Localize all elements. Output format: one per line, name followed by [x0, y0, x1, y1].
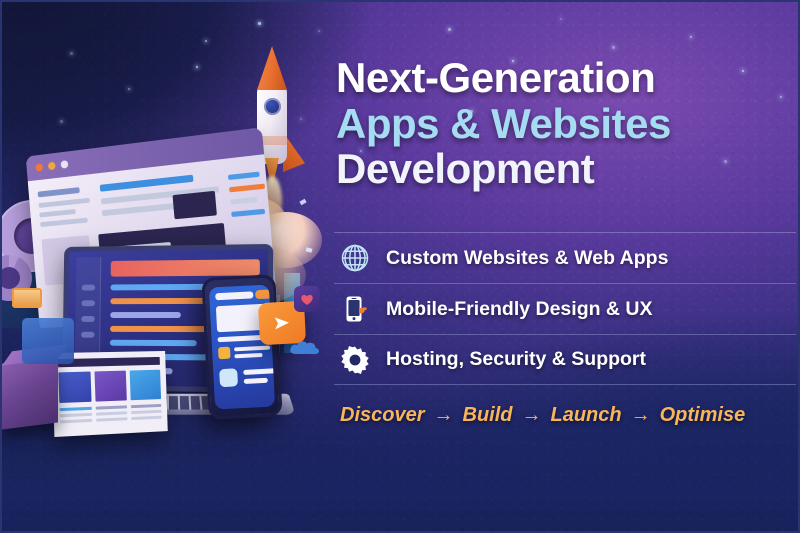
process-step-1[interactable]: Discover — [340, 404, 425, 427]
process-step-3[interactable]: Launch — [551, 404, 622, 427]
headline-line-1: Next-Generation — [336, 56, 796, 100]
process-steps: Discover→Build→Launch→Optimise — [340, 404, 745, 427]
feature-item-3[interactable]: Hosting, Security & Support — [334, 334, 796, 385]
cloud-icon — [288, 338, 322, 356]
arrow-right-icon: → — [631, 404, 651, 427]
hero-illustration — [0, 0, 330, 533]
arrow-right-icon: → — [522, 404, 542, 427]
feature-list: Custom Websites & Web AppsMobile-Friendl… — [334, 232, 796, 385]
mobile-icon — [338, 292, 372, 326]
window-close-dot — [35, 163, 43, 171]
feature-item-2[interactable]: Mobile-Friendly Design & UX — [334, 283, 796, 334]
feature-label: Custom Websites & Web Apps — [386, 247, 668, 270]
process-step-2[interactable]: Build — [463, 404, 513, 427]
window-minimize-dot — [48, 162, 56, 171]
gear-icon — [338, 343, 372, 377]
blue-device-illustration — [22, 318, 74, 364]
promo-banner: Next-Generation Apps & Websites Developm… — [0, 0, 800, 533]
arrow-right-icon: → — [434, 404, 454, 427]
heart-icon — [294, 286, 320, 312]
headline-line-2: Apps & Websites — [336, 102, 796, 146]
content-column: Next-Generation Apps & Websites Developm… — [334, 0, 800, 533]
page-title: Next-Generation Apps & Websites Developm… — [336, 56, 796, 191]
headline-line-3: Development — [336, 147, 796, 191]
window-maximize-dot — [60, 160, 68, 169]
feature-label: Hosting, Security & Support — [386, 348, 646, 371]
globe-icon — [338, 241, 372, 275]
feature-item-1[interactable]: Custom Websites & Web Apps — [334, 232, 796, 283]
smartphone-icon — [201, 274, 282, 420]
box-illustration — [2, 357, 58, 430]
small-screen-icon — [12, 288, 42, 308]
feature-label: Mobile-Friendly Design & UX — [386, 298, 653, 321]
process-step-4[interactable]: Optimise — [660, 404, 746, 427]
